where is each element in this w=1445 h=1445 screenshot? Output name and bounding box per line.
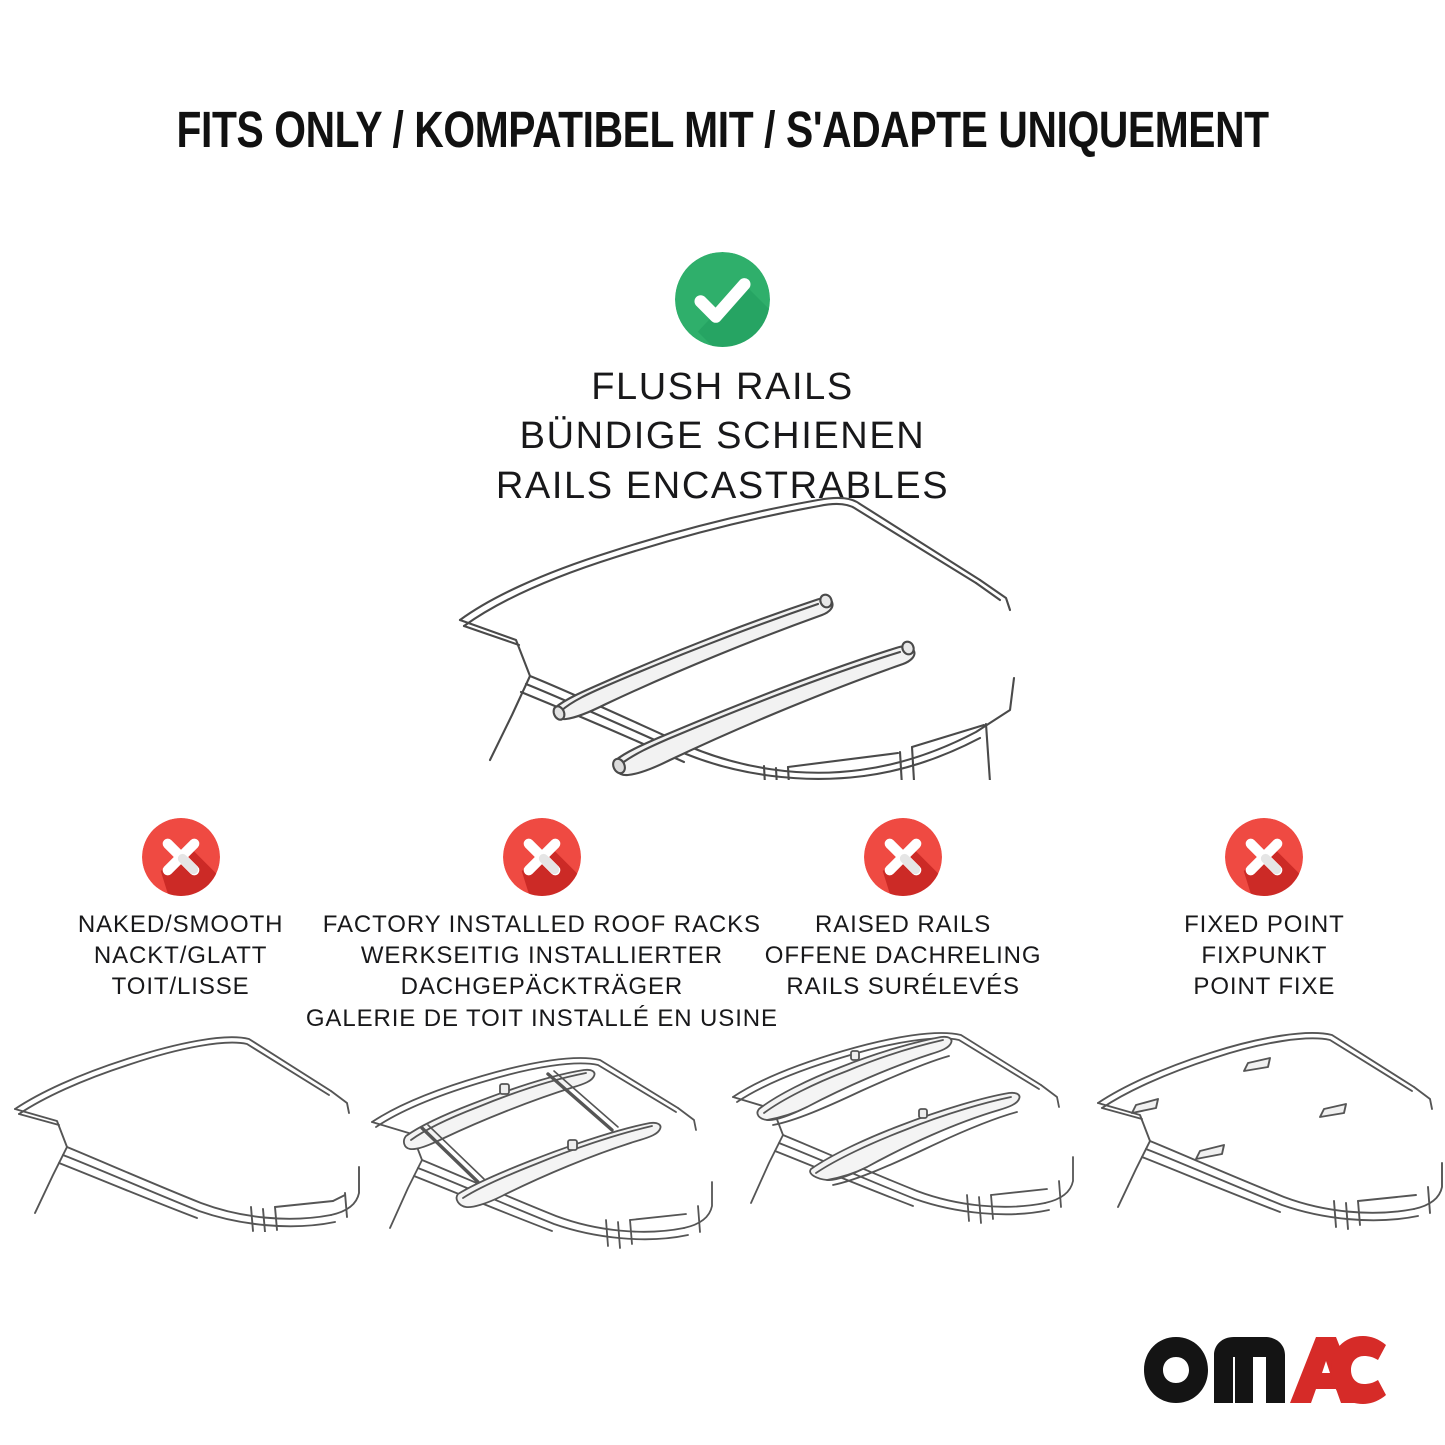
label-de-2: DACHGEPÄCKTRÄGER (306, 971, 778, 1002)
car-roof-factory-racks-illustration (362, 1048, 722, 1263)
car-roof-flush-rails-illustration (420, 470, 1020, 780)
check-circle-icon (675, 252, 770, 347)
car-roof-fixed-point-illustration (1084, 1017, 1444, 1232)
page-title-text: FITS ONLY / KOMPATIBEL MIT / S'ADAPTE UN… (176, 104, 1268, 155)
label-en: NAKED/SMOOTH (78, 909, 283, 940)
label-de: NACKT/GLATT (78, 940, 283, 971)
label-en: FACTORY INSTALLED ROOF RACKS (306, 909, 778, 940)
incompatible-labels: RAISED RAILS OFFENE DACHRELING RAILS SUR… (765, 909, 1042, 1003)
incompatible-item-raised-rails: RAISED RAILS OFFENE DACHRELING RAILS SUR… (723, 818, 1084, 1232)
x-circle-icon (1225, 818, 1303, 896)
compatible-label-de: BÜNDIGE SCHIENEN (0, 412, 1445, 461)
incompatible-labels: NAKED/SMOOTH NACKT/GLATT TOIT/LISSE (78, 909, 283, 1003)
incompatible-labels: FACTORY INSTALLED ROOF RACKS WERKSEITIG … (306, 909, 778, 1034)
label-fr: RAILS SURÉLEVÉS (765, 971, 1042, 1002)
label-fr: TOIT/LISSE (78, 971, 283, 1002)
incompatible-section: NAKED/SMOOTH NACKT/GLATT TOIT/LISSE (0, 818, 1445, 1263)
label-en: FIXED POINT (1184, 909, 1345, 940)
compatible-label-en: FLUSH RAILS (0, 363, 1445, 412)
x-circle-icon (503, 818, 581, 896)
car-roof-raised-rails-illustration (723, 1017, 1083, 1232)
omac-logo (1140, 1333, 1390, 1407)
label-en: RAISED RAILS (765, 909, 1042, 940)
label-de: FIXPUNKT (1184, 940, 1345, 971)
compatibility-infographic: FITS ONLY / KOMPATIBEL MIT / S'ADAPTE UN… (0, 0, 1445, 1445)
label-de: OFFENE DACHRELING (765, 940, 1042, 971)
incompatible-labels: FIXED POINT FIXPUNKT POINT FIXE (1184, 909, 1345, 1003)
label-fr: GALERIE DE TOIT INSTALLÉ EN USINE (306, 1003, 778, 1034)
label-de-1: WERKSEITIG INSTALLIERTER (306, 940, 778, 971)
incompatible-item-fixed-point: FIXED POINT FIXPUNKT POINT FIXE (1084, 818, 1445, 1232)
page-title: FITS ONLY / KOMPATIBEL MIT / S'ADAPTE UN… (0, 104, 1445, 155)
x-circle-icon (864, 818, 942, 896)
label-fr: POINT FIXE (1184, 971, 1345, 1002)
x-circle-icon (142, 818, 220, 896)
car-roof-bare-illustration (1, 1017, 361, 1232)
incompatible-item-factory-racks: FACTORY INSTALLED ROOF RACKS WERKSEITIG … (361, 818, 722, 1263)
